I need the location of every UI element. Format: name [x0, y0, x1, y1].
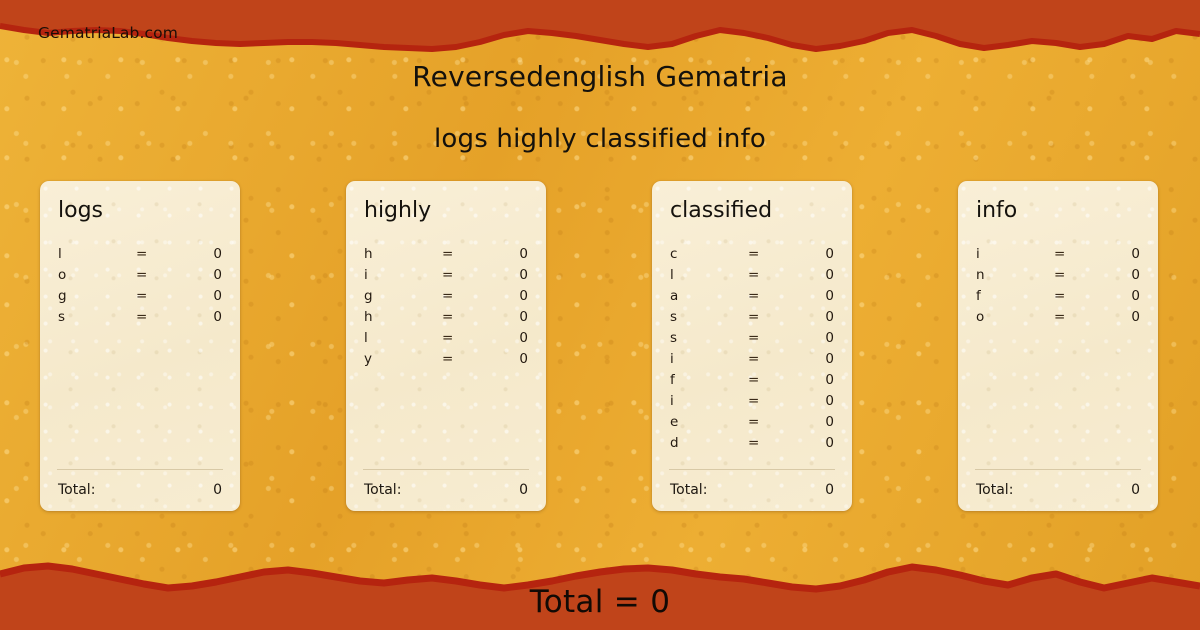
letter-value: 0: [825, 349, 834, 370]
equals-sign: =: [442, 286, 453, 307]
letter-row: d=0: [652, 433, 852, 454]
card-total-row: Total:0: [346, 481, 546, 499]
letter-row: c=0: [652, 244, 852, 265]
letter-value: 0: [519, 349, 528, 370]
letter-label: h: [364, 244, 373, 265]
word-card: logsl=0o=0g=0s=0Total:0: [40, 181, 240, 511]
equals-sign: =: [136, 307, 147, 328]
equals-sign: =: [748, 307, 759, 328]
letter-label: n: [976, 265, 985, 286]
equals-sign: =: [136, 265, 147, 286]
word-card-title: logs: [58, 200, 103, 222]
card-total-label: Total:: [976, 481, 1013, 499]
letter-label: s: [670, 307, 677, 328]
letter-label: s: [670, 328, 677, 349]
equals-sign: =: [442, 328, 453, 349]
card-separator: [363, 469, 529, 470]
letter-rows: h=0i=0g=0h=0l=0y=0: [346, 244, 546, 370]
letter-value: 0: [213, 307, 222, 328]
letter-row: s=0: [652, 307, 852, 328]
letter-value: 0: [825, 391, 834, 412]
letter-label: c: [670, 244, 677, 265]
letter-label: a: [670, 286, 678, 307]
card-footer: Total:0: [346, 469, 546, 499]
letter-label: f: [976, 286, 981, 307]
letter-value: 0: [519, 328, 528, 349]
letter-value: 0: [825, 328, 834, 349]
letter-label: i: [364, 265, 368, 286]
letter-value: 0: [1131, 265, 1140, 286]
equals-sign: =: [748, 370, 759, 391]
equals-sign: =: [136, 244, 147, 265]
letter-row: s=0: [652, 328, 852, 349]
equals-sign: =: [748, 244, 759, 265]
card-total-label: Total:: [670, 481, 707, 499]
letter-row: l=0: [652, 265, 852, 286]
letter-row: e=0: [652, 412, 852, 433]
letter-label: l: [58, 244, 62, 265]
equals-sign: =: [748, 433, 759, 454]
letter-label: s: [58, 307, 65, 328]
letter-rows: c=0l=0a=0s=0s=0i=0f=0i=0e=0d=0: [652, 244, 852, 454]
grand-total: Total = 0: [0, 584, 1200, 620]
letter-row: s=0: [40, 307, 240, 328]
letter-label: h: [364, 307, 373, 328]
card-footer: Total:0: [652, 469, 852, 499]
equals-sign: =: [442, 349, 453, 370]
card-separator: [975, 469, 1141, 470]
equals-sign: =: [748, 328, 759, 349]
word-card: highlyh=0i=0g=0h=0l=0y=0Total:0: [346, 181, 546, 511]
equals-sign: =: [1054, 265, 1065, 286]
letter-row: i=0: [652, 391, 852, 412]
letter-row: a=0: [652, 286, 852, 307]
card-total-label: Total:: [58, 481, 95, 499]
letter-value: 0: [213, 265, 222, 286]
equals-sign: =: [136, 286, 147, 307]
letter-value: 0: [519, 286, 528, 307]
letter-row: o=0: [40, 265, 240, 286]
letter-row: i=0: [346, 265, 546, 286]
letter-row: g=0: [40, 286, 240, 307]
letter-label: o: [976, 307, 984, 328]
letter-row: n=0: [958, 265, 1158, 286]
card-total-value: 0: [519, 481, 528, 499]
letter-row: h=0: [346, 244, 546, 265]
equals-sign: =: [1054, 307, 1065, 328]
equals-sign: =: [442, 307, 453, 328]
letter-rows: l=0o=0g=0s=0: [40, 244, 240, 328]
card-total-row: Total:0: [652, 481, 852, 499]
equals-sign: =: [442, 244, 453, 265]
word-card: infoi=0n=0f=0o=0Total:0: [958, 181, 1158, 511]
letter-value: 0: [825, 433, 834, 454]
letter-value: 0: [519, 265, 528, 286]
letter-row: y=0: [346, 349, 546, 370]
letter-value: 0: [1131, 307, 1140, 328]
letter-row: l=0: [346, 328, 546, 349]
letter-row: i=0: [652, 349, 852, 370]
letter-label: l: [364, 328, 368, 349]
equals-sign: =: [748, 265, 759, 286]
card-total-value: 0: [825, 481, 834, 499]
equals-sign: =: [1054, 286, 1065, 307]
equals-sign: =: [748, 349, 759, 370]
letter-label: i: [976, 244, 980, 265]
word-card: classifiedc=0l=0a=0s=0s=0i=0f=0i=0e=0d=0…: [652, 181, 852, 511]
letter-value: 0: [825, 265, 834, 286]
word-card-title: classified: [670, 200, 772, 222]
letter-row: g=0: [346, 286, 546, 307]
word-cards-container: logsl=0o=0g=0s=0Total:0highlyh=0i=0g=0h=…: [0, 0, 1200, 630]
letter-value: 0: [825, 370, 834, 391]
letter-value: 0: [213, 244, 222, 265]
equals-sign: =: [442, 265, 453, 286]
letter-value: 0: [519, 244, 528, 265]
letter-label: g: [58, 286, 67, 307]
letter-value: 0: [825, 412, 834, 433]
letter-label: o: [58, 265, 66, 286]
letter-label: i: [670, 391, 674, 412]
letter-value: 0: [1131, 244, 1140, 265]
letter-value: 0: [213, 286, 222, 307]
letter-row: f=0: [958, 286, 1158, 307]
letter-value: 0: [825, 307, 834, 328]
card-separator: [57, 469, 223, 470]
equals-sign: =: [748, 412, 759, 433]
letter-row: o=0: [958, 307, 1158, 328]
word-card-title: info: [976, 200, 1017, 222]
card-total-row: Total:0: [40, 481, 240, 499]
letter-value: 0: [825, 244, 834, 265]
letter-label: g: [364, 286, 373, 307]
letter-value: 0: [825, 286, 834, 307]
letter-row: f=0: [652, 370, 852, 391]
letter-row: i=0: [958, 244, 1158, 265]
letter-label: y: [364, 349, 372, 370]
card-total-value: 0: [1131, 481, 1140, 499]
letter-label: f: [670, 370, 675, 391]
letter-label: e: [670, 412, 678, 433]
letter-label: i: [670, 349, 674, 370]
card-separator: [669, 469, 835, 470]
card-footer: Total:0: [958, 469, 1158, 499]
equals-sign: =: [1054, 244, 1065, 265]
card-total-value: 0: [213, 481, 222, 499]
equals-sign: =: [748, 286, 759, 307]
word-card-title: highly: [364, 200, 431, 222]
equals-sign: =: [748, 391, 759, 412]
letter-row: h=0: [346, 307, 546, 328]
letter-rows: i=0n=0f=0o=0: [958, 244, 1158, 328]
card-footer: Total:0: [40, 469, 240, 499]
letter-value: 0: [1131, 286, 1140, 307]
card-total-label: Total:: [364, 481, 401, 499]
letter-row: l=0: [40, 244, 240, 265]
letter-value: 0: [519, 307, 528, 328]
card-total-row: Total:0: [958, 481, 1158, 499]
letter-label: l: [670, 265, 674, 286]
letter-label: d: [670, 433, 679, 454]
